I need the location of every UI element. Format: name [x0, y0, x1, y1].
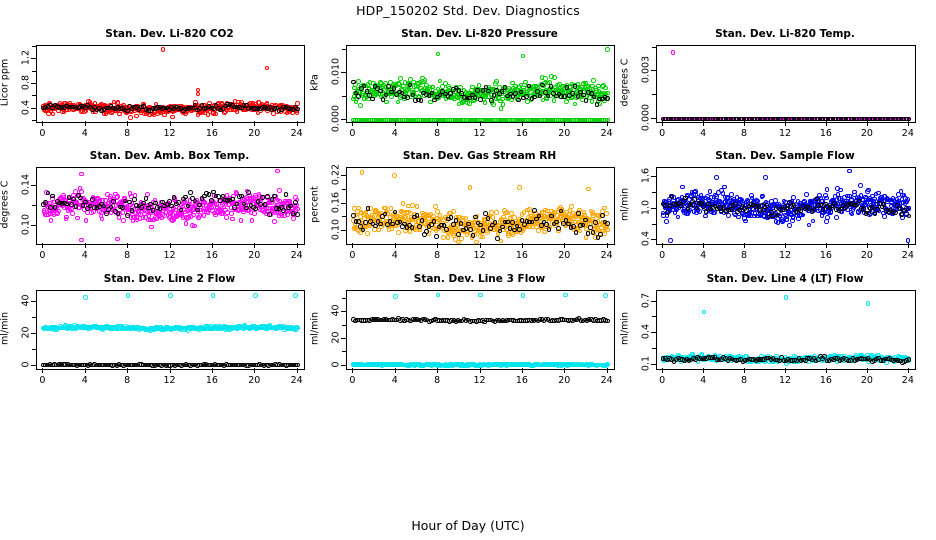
data-area [657, 291, 915, 369]
data-point [784, 295, 789, 300]
panel-line4-lt-flow: Stan. Dev. Line 4 (LT) Flow0.10.40.7ml/m… [0, 0, 936, 540]
plot-box [656, 290, 916, 370]
panel-title: Stan. Dev. Line 4 (LT) Flow [656, 273, 914, 285]
data-point [702, 310, 707, 315]
data-point [866, 301, 871, 306]
